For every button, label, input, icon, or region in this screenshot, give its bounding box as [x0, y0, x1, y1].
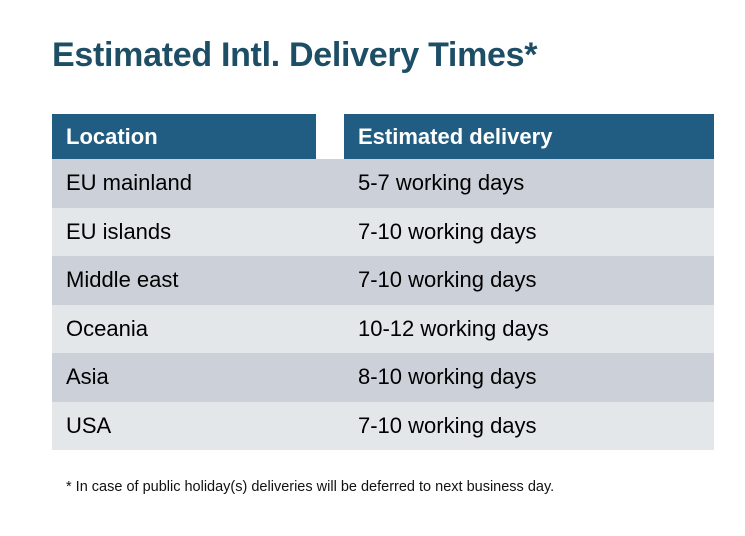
cell-location: USA: [52, 402, 316, 451]
column-header-location: Location: [52, 114, 316, 159]
table-row: USA 7-10 working days: [52, 402, 692, 451]
column-divider: [316, 159, 344, 208]
cell-estimated-delivery: 8-10 working days: [344, 353, 714, 402]
table-row: Asia 8-10 working days: [52, 353, 692, 402]
column-divider: [316, 353, 344, 402]
table-header-row: Location Estimated delivery: [52, 114, 692, 159]
cell-location: EU islands: [52, 208, 316, 257]
column-divider: [316, 114, 344, 159]
column-divider: [316, 305, 344, 354]
cell-estimated-delivery: 7-10 working days: [344, 256, 714, 305]
cell-location: EU mainland: [52, 159, 316, 208]
cell-estimated-delivery: 5-7 working days: [344, 159, 714, 208]
table-row: Oceania 10-12 working days: [52, 305, 692, 354]
cell-estimated-delivery: 7-10 working days: [344, 208, 714, 257]
cell-estimated-delivery: 10-12 working days: [344, 305, 714, 354]
page-title: Estimated Intl. Delivery Times*: [52, 36, 537, 75]
cell-location: Middle east: [52, 256, 316, 305]
table-row: Middle east 7-10 working days: [52, 256, 692, 305]
delivery-times-card: Estimated Intl. Delivery Times* Location…: [0, 0, 745, 536]
cell-estimated-delivery: 7-10 working days: [344, 402, 714, 451]
column-divider: [316, 208, 344, 257]
table-row: EU mainland 5-7 working days: [52, 159, 692, 208]
cell-location: Asia: [52, 353, 316, 402]
column-divider: [316, 256, 344, 305]
delivery-times-table: Location Estimated delivery EU mainland …: [52, 114, 692, 450]
column-header-estimated-delivery: Estimated delivery: [344, 114, 714, 159]
footnote-text: * In case of public holiday(s) deliverie…: [66, 479, 554, 495]
table-row: EU islands 7-10 working days: [52, 208, 692, 257]
column-divider: [316, 402, 344, 451]
cell-location: Oceania: [52, 305, 316, 354]
